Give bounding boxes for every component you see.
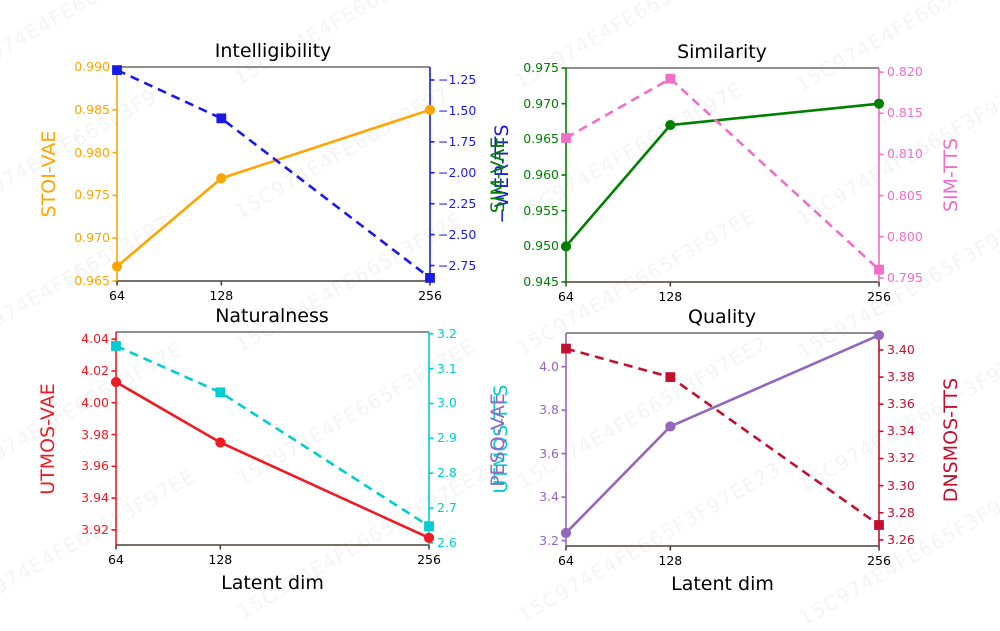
y-axis-label-left: PESQ-VAE [487, 393, 509, 487]
y-tick-label-left: 3.4 [439, 489, 559, 504]
x-tick-label: 256 [829, 553, 929, 568]
y-tick-label-left: 4.0 [439, 359, 559, 374]
figure-canvas: 15C974E4FE665F3F15C974E4FE665F3F915C974E… [0, 0, 1000, 610]
y-axis-label-right: DNSMOS-TTS [940, 377, 962, 501]
data-point [874, 331, 883, 340]
y-tick-label-right: 3.40 [887, 342, 1000, 357]
x-tick-label: 64 [516, 553, 616, 568]
y-tick-label-right: 3.26 [887, 532, 1000, 547]
data-point [666, 422, 675, 431]
x-axis-label: Latent dim [523, 573, 923, 595]
data-point [561, 528, 570, 537]
y-tick-label-right: 3.28 [887, 505, 1000, 520]
data-point [562, 344, 571, 353]
x-tick-label: 128 [620, 553, 720, 568]
y-tick-label-left: 3.2 [439, 533, 559, 548]
plot-area-quality [0, 0, 1000, 610]
data-point [666, 373, 675, 382]
series-line-PESQ-VAE [566, 335, 879, 533]
subplot-title-quality: Quality [522, 306, 922, 328]
subplot-quality: Quality3.23.43.63.84.03.263.283.303.323.… [0, 0, 1000, 610]
data-point [875, 521, 884, 530]
series-line-DNSMOS-TTS [566, 349, 879, 525]
